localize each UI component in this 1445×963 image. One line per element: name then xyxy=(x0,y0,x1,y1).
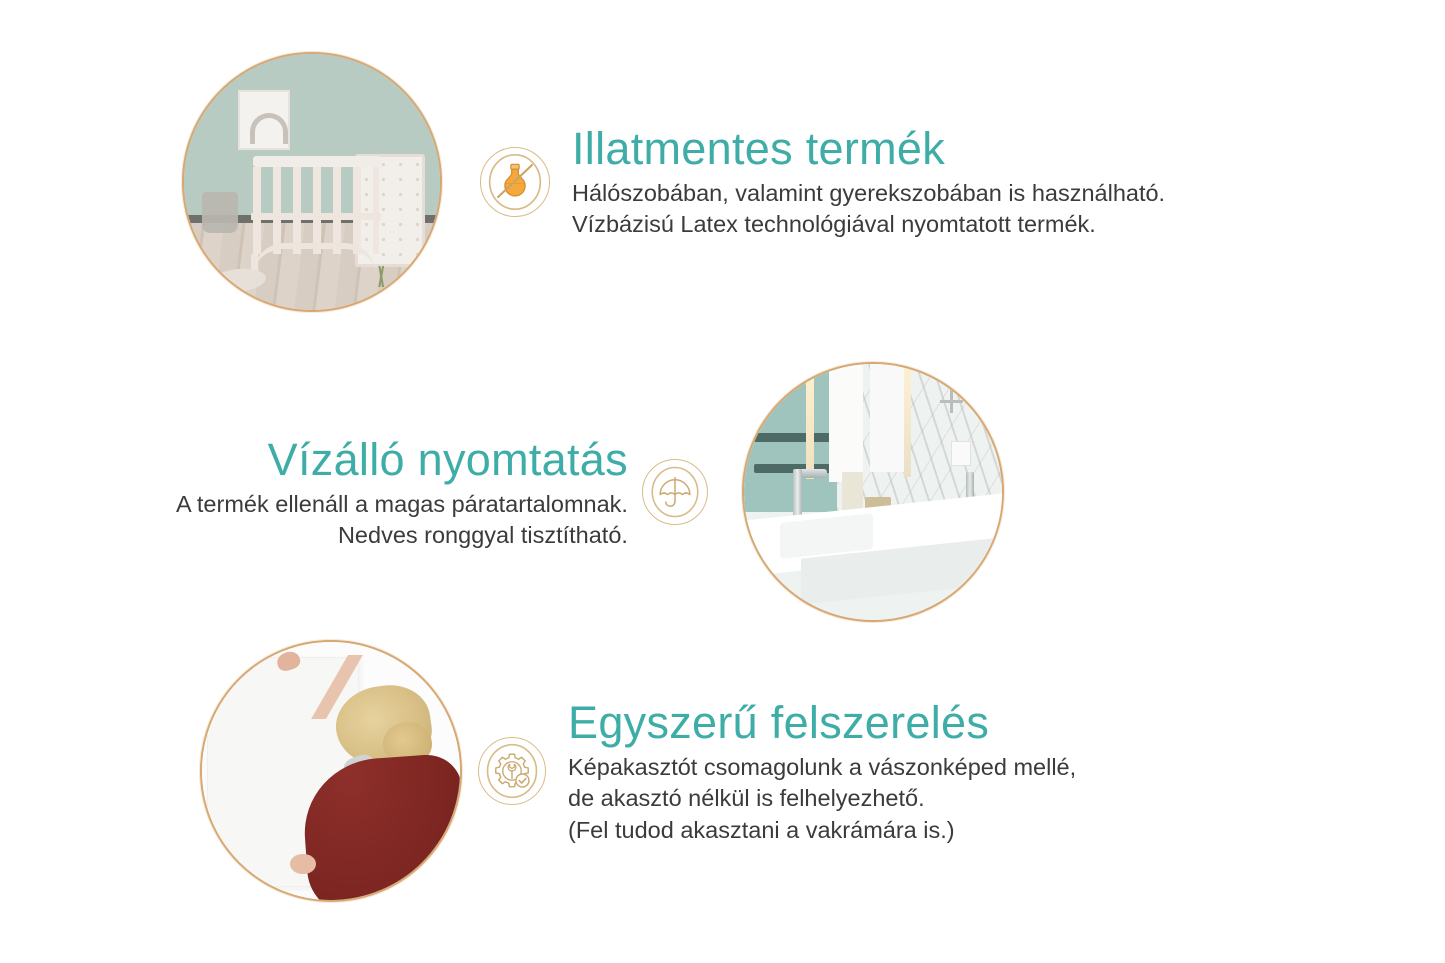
bathroom-sink-photo xyxy=(742,362,1004,622)
light-strip-shape xyxy=(806,364,814,479)
crib-top-rail-shape xyxy=(253,156,381,166)
bathroom-scene-art xyxy=(744,364,1002,620)
hanging-canvas-photo xyxy=(200,640,462,902)
rainbow-artwork-frame xyxy=(238,90,291,150)
feature-line: Vízbázisú Latex technológiával nyomtatot… xyxy=(572,209,1165,240)
nursery-scene-art xyxy=(184,54,440,310)
wall-hook-shape xyxy=(940,390,963,413)
feature-text-easy-mounting: Egyszerű felszerelés Képakasztót csomago… xyxy=(568,700,1076,846)
basket-shape xyxy=(202,192,238,233)
light-strip-shape xyxy=(904,364,911,477)
feature-line: A termék ellenáll a magas páratartalomna… xyxy=(176,489,628,520)
light-switch-shape xyxy=(951,441,971,466)
feature-title: Vízálló nyomtatás xyxy=(176,437,628,483)
feature-infographic: Illatmentes termék Hálószobában, valamin… xyxy=(0,0,1445,963)
feature-title: Illatmentes termék xyxy=(572,126,1165,172)
shelf-shape xyxy=(754,433,831,442)
feature-line: Képakasztót csomagolunk a vászonképed me… xyxy=(568,752,1076,783)
feature-line: (Fel tudod akasztani a vakrámára is.) xyxy=(568,815,1076,846)
hanging-canvas-scene-art xyxy=(202,642,460,900)
feature-block-waterproof-print: Vízálló nyomtatás A termék ellenáll a ma… xyxy=(176,362,1004,622)
feature-block-easy-mounting: Egyszerű felszerelés Képakasztót csomago… xyxy=(200,640,1076,902)
feature-title: Egyszerű felszerelés xyxy=(568,700,1076,746)
feature-text-fragrance-free: Illatmentes termék Hálószobában, valamin… xyxy=(572,126,1165,240)
no-fragrance-bottle-icon xyxy=(480,147,550,217)
gear-wrench-check-icon xyxy=(478,737,546,805)
feature-block-fragrance-free: Illatmentes termék Hálószobában, valamin… xyxy=(182,52,1165,312)
rainbow-icon xyxy=(250,113,287,144)
feature-text-waterproof-print: Vízálló nyomtatás A termék ellenáll a ma… xyxy=(176,437,628,551)
crib-lower-rail-shape xyxy=(251,213,382,221)
mirror-column-shape xyxy=(870,364,904,472)
feature-line: de akasztó nélkül is felhelyezhető. xyxy=(568,783,1076,814)
feature-line: Nedves ronggyal tisztítható. xyxy=(176,520,628,551)
feature-line: Hálószobában, valamint gyerekszobában is… xyxy=(572,178,1165,209)
nursery-room-photo xyxy=(182,52,442,312)
hand-shape xyxy=(290,854,316,875)
plant-shape xyxy=(368,266,399,286)
crib-bars-shape xyxy=(253,167,378,254)
umbrella-icon xyxy=(642,459,708,525)
crib-arc-shape xyxy=(253,243,376,275)
mirror-column-shape xyxy=(829,364,863,482)
